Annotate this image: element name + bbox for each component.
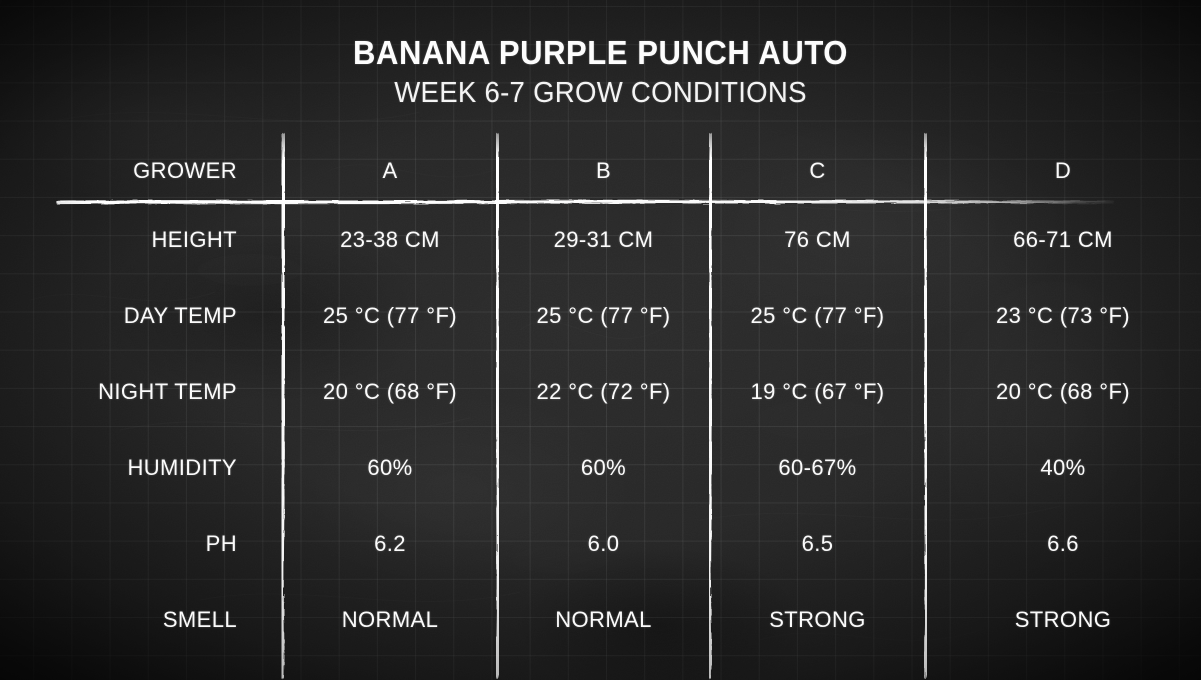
table-cell: 6.6 bbox=[925, 531, 1201, 557]
table-cell: 60% bbox=[283, 455, 497, 481]
table-cell: 66-71 CM bbox=[925, 227, 1201, 253]
table-cell: 40% bbox=[925, 455, 1201, 481]
table-cell: 20 °C (68 °F) bbox=[283, 379, 497, 405]
table-cell: 25 °C (77 °F) bbox=[710, 303, 925, 329]
table-cell: 20 °C (68 °F) bbox=[925, 379, 1201, 405]
header-block: BANANA PURPLE PUNCH AUTO WEEK 6-7 GROW C… bbox=[0, 34, 1201, 111]
table-cell: NORMAL bbox=[283, 607, 497, 633]
table-cell: 23-38 CM bbox=[283, 227, 497, 253]
table-cell: 6.2 bbox=[283, 531, 497, 557]
table-row: HEIGHT 23-38 CM 29-31 CM 76 CM 66-71 CM bbox=[0, 202, 1201, 278]
table-cell: 76 CM bbox=[710, 227, 925, 253]
row-label: DAY TEMP bbox=[0, 303, 283, 329]
column-header-c: C bbox=[710, 158, 925, 184]
table-cell: 25 °C (77 °F) bbox=[283, 303, 497, 329]
table-cell: STRONG bbox=[710, 607, 925, 633]
page-subtitle: WEEK 6-7 GROW CONDITIONS bbox=[30, 75, 1171, 111]
page-title: BANANA PURPLE PUNCH AUTO bbox=[36, 34, 1165, 72]
column-header-grower: GROWER bbox=[0, 158, 283, 184]
table-cell: 29-31 CM bbox=[497, 227, 710, 253]
table-cell: 23 °C (73 °F) bbox=[925, 303, 1201, 329]
column-header-a: A bbox=[283, 158, 497, 184]
table-row: PH 6.2 6.0 6.5 6.6 bbox=[0, 506, 1201, 582]
row-label: HEIGHT bbox=[0, 227, 283, 253]
table-row: NIGHT TEMP 20 °C (68 °F) 22 °C (72 °F) 1… bbox=[0, 354, 1201, 430]
row-label: HUMIDITY bbox=[0, 455, 283, 481]
table-cell: 19 °C (67 °F) bbox=[710, 379, 925, 405]
table-row: SMELL NORMAL NORMAL STRONG STRONG bbox=[0, 582, 1201, 658]
table-cell: 6.0 bbox=[497, 531, 710, 557]
chalkboard-grow-conditions-table: BANANA PURPLE PUNCH AUTO WEEK 6-7 GROW C… bbox=[0, 0, 1201, 680]
table-cell: 60% bbox=[497, 455, 710, 481]
column-header-d: D bbox=[925, 158, 1201, 184]
grow-conditions-table: GROWER A B C D HEIGHT 23-38 CM 29-31 CM … bbox=[0, 140, 1201, 658]
table-row: HUMIDITY 60% 60% 60-67% 40% bbox=[0, 430, 1201, 506]
row-label: NIGHT TEMP bbox=[0, 379, 283, 405]
table-cell: 60-67% bbox=[710, 455, 925, 481]
table-header-row: GROWER A B C D bbox=[0, 140, 1201, 202]
table-cell: STRONG bbox=[925, 607, 1201, 633]
row-label: SMELL bbox=[0, 607, 283, 633]
table-row: DAY TEMP 25 °C (77 °F) 25 °C (77 °F) 25 … bbox=[0, 278, 1201, 354]
table-cell: 25 °C (77 °F) bbox=[497, 303, 710, 329]
table-cell: 22 °C (72 °F) bbox=[497, 379, 710, 405]
table-cell: 6.5 bbox=[710, 531, 925, 557]
column-header-b: B bbox=[497, 158, 710, 184]
row-label: PH bbox=[0, 531, 283, 557]
table-cell: NORMAL bbox=[497, 607, 710, 633]
